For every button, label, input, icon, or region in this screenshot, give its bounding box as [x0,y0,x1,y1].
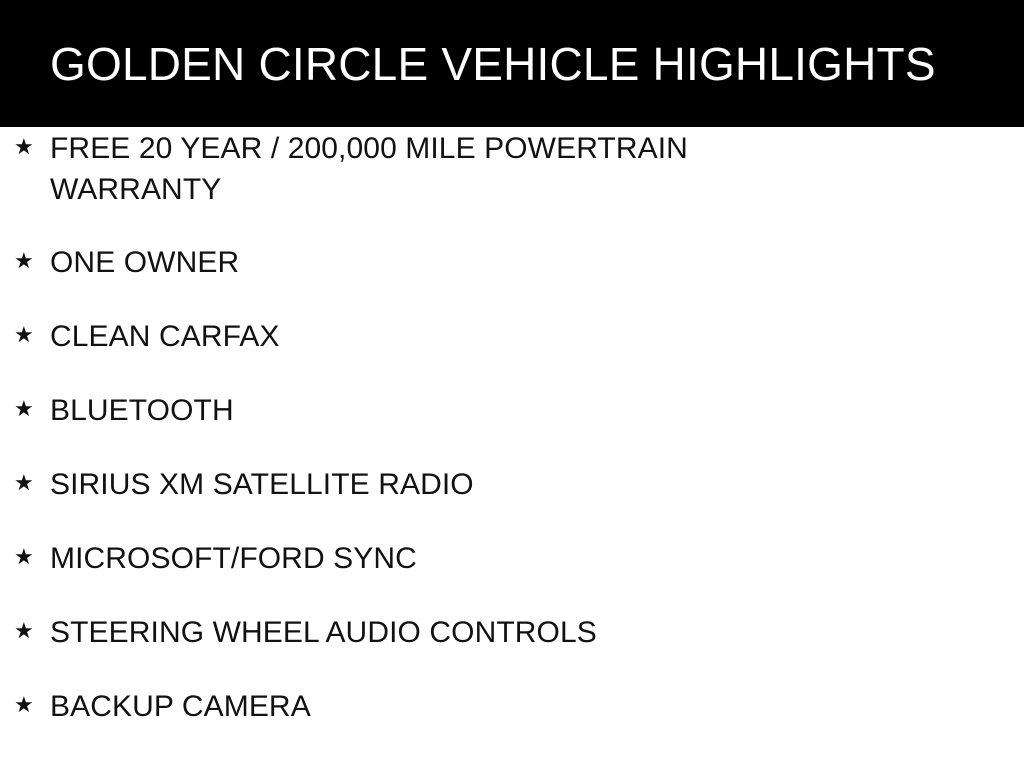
highlight-label: ONE OWNER [50,241,850,283]
list-item: ★ SIRIUS XM SATELLITE RADIO [0,463,1024,537]
highlight-label: STEERING WHEEL AUDIO CONTROLS [50,611,850,653]
highlight-label: BLUETOOTH [50,389,850,431]
list-item: ★ STEERING WHEEL AUDIO CONTROLS [0,611,1024,685]
highlight-label: SIRIUS XM SATELLITE RADIO [50,463,850,505]
list-item: ★ CLEAN CARFAX [0,315,1024,389]
star-icon: ★ [14,685,50,727]
vehicle-highlights-page: GOLDEN CIRCLE VEHICLE HIGHLIGHTS ★ FREE … [0,0,1024,768]
highlight-label: MICROSOFT/FORD SYNC [50,537,850,579]
list-item: ★ BACKUP CAMERA [0,685,1024,759]
star-icon: ★ [14,241,50,283]
list-item: ★ MICROSOFT/FORD SYNC [0,537,1024,611]
star-icon: ★ [14,389,50,431]
highlight-label: FREE 20 YEAR / 200,000 MILE POWERTRAIN W… [50,127,850,210]
highlight-label: BACKUP CAMERA [50,685,850,727]
vehicle-highlights-list: ★ FREE 20 YEAR / 200,000 MILE POWERTRAIN… [0,127,1024,759]
star-icon: ★ [14,315,50,357]
star-icon: ★ [14,463,50,505]
list-item: ★ BLUETOOTH [0,389,1024,463]
list-item: ★ ONE OWNER [0,241,1024,315]
page-title: GOLDEN CIRCLE VEHICLE HIGHLIGHTS [0,39,936,89]
list-item: ★ FREE 20 YEAR / 200,000 MILE POWERTRAIN… [0,127,1024,241]
highlight-label: CLEAN CARFAX [50,315,850,357]
page-header-banner: GOLDEN CIRCLE VEHICLE HIGHLIGHTS [0,0,1024,127]
star-icon: ★ [14,611,50,653]
star-icon: ★ [14,127,50,169]
star-icon: ★ [14,537,50,579]
